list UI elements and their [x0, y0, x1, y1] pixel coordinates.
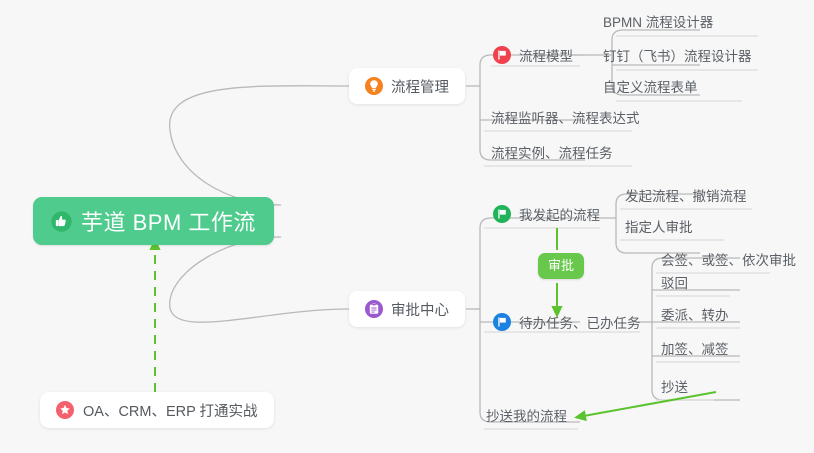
node-todo-done-tasks[interactable]: 待办任务、已办任务: [493, 311, 641, 333]
mindmap-canvas: 芋道 BPM 工作流 流程管理 流程模型 流程监听器、流程表达式 流程实例、流程…: [0, 0, 814, 453]
node-cc-to-me[interactable]: 抄送我的流程: [486, 406, 567, 428]
flag-green-icon: [493, 205, 511, 223]
label-process-model: 流程模型: [519, 45, 573, 65]
branch-label-process-management: 流程管理: [391, 76, 449, 97]
lightbulb-icon: [365, 77, 383, 95]
node-add-remove-sign[interactable]: 加签、减签: [661, 339, 729, 361]
root-label: 芋道 BPM 工作流: [81, 205, 256, 237]
star-icon: [56, 401, 74, 419]
branch-node-approval-center[interactable]: 审批中心: [349, 291, 465, 327]
note-label: OA、CRM、ERP 打通实战: [83, 400, 258, 421]
node-carbon-copy[interactable]: 抄送: [661, 377, 688, 399]
annotation-approval-chip[interactable]: 审批: [538, 253, 584, 279]
node-reject[interactable]: 驳回: [661, 273, 688, 295]
arrow-cc-to-ccmine: [578, 392, 716, 417]
node-countersign[interactable]: 会签、或签、依次审批: [661, 250, 796, 272]
node-my-started-process[interactable]: 我发起的流程: [493, 203, 600, 225]
branch-label-approval-center: 审批中心: [391, 299, 449, 320]
label-my-started-process: 我发起的流程: [519, 204, 600, 224]
label-todo-done-tasks: 待办任务、已办任务: [519, 312, 641, 332]
node-custom-form[interactable]: 自定义流程表单: [603, 77, 698, 99]
edge-root-to-process-management: [170, 86, 349, 205]
root-node[interactable]: 芋道 BPM 工作流: [33, 197, 274, 245]
node-process-model[interactable]: 流程模型: [493, 44, 573, 66]
note-node-integration[interactable]: OA、CRM、ERP 打通实战: [40, 392, 274, 428]
node-assignee-approval[interactable]: 指定人审批: [625, 217, 693, 239]
edge-root-to-approval-center: [170, 237, 349, 322]
node-delegate-transfer[interactable]: 委派、转办: [661, 305, 729, 327]
node-initiate-cancel[interactable]: 发起流程、撤销流程: [625, 186, 747, 208]
node-dingtalk-designer[interactable]: 钉钉（飞书）流程设计器: [603, 46, 752, 68]
node-process-listener[interactable]: 流程监听器、流程表达式: [491, 108, 640, 130]
branch-node-process-management[interactable]: 流程管理: [349, 68, 465, 104]
clipboard-icon: [365, 300, 383, 318]
node-process-instance[interactable]: 流程实例、流程任务: [491, 143, 613, 165]
flag-blue-icon: [493, 313, 511, 331]
node-bpmn-designer[interactable]: BPMN 流程设计器: [603, 12, 713, 34]
flag-red-icon: [493, 46, 511, 64]
thumbs-up-icon: [51, 211, 72, 232]
